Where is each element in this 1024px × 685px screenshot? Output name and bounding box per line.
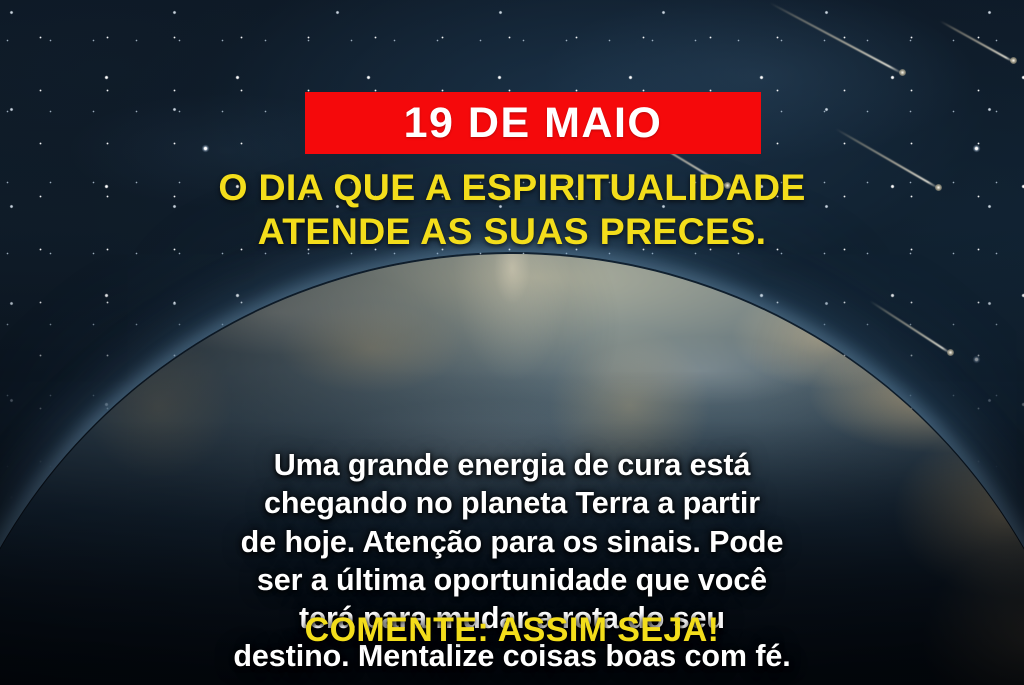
body-line-4: ser a última oportunidade que você [52, 561, 972, 599]
headline-line-2: ATENDE AS SUAS PRECES. [62, 210, 962, 254]
call-to-action-label: COMENTE: ASSIM SEJA! [305, 611, 720, 649]
call-to-action: COMENTE: ASSIM SEJA! [62, 612, 962, 649]
date-badge-label: 19 DE MAIO [404, 102, 663, 145]
poster-content: 19 DE MAIO O DIA QUE A ESPIRITUALIDADE A… [0, 0, 1024, 685]
body-line-3: de hoje. Atenção para os sinais. Pode [52, 523, 972, 561]
headline: O DIA QUE A ESPIRITUALIDADE ATENDE AS SU… [62, 166, 962, 254]
social-media-poster: 19 DE MAIO O DIA QUE A ESPIRITUALIDADE A… [0, 0, 1024, 685]
body-line-2: chegando no planeta Terra a partir [52, 484, 972, 522]
body-line-1: Uma grande energia de cura está [52, 446, 972, 484]
headline-line-1: O DIA QUE A ESPIRITUALIDADE [62, 166, 962, 210]
date-badge: 19 DE MAIO [305, 92, 761, 154]
